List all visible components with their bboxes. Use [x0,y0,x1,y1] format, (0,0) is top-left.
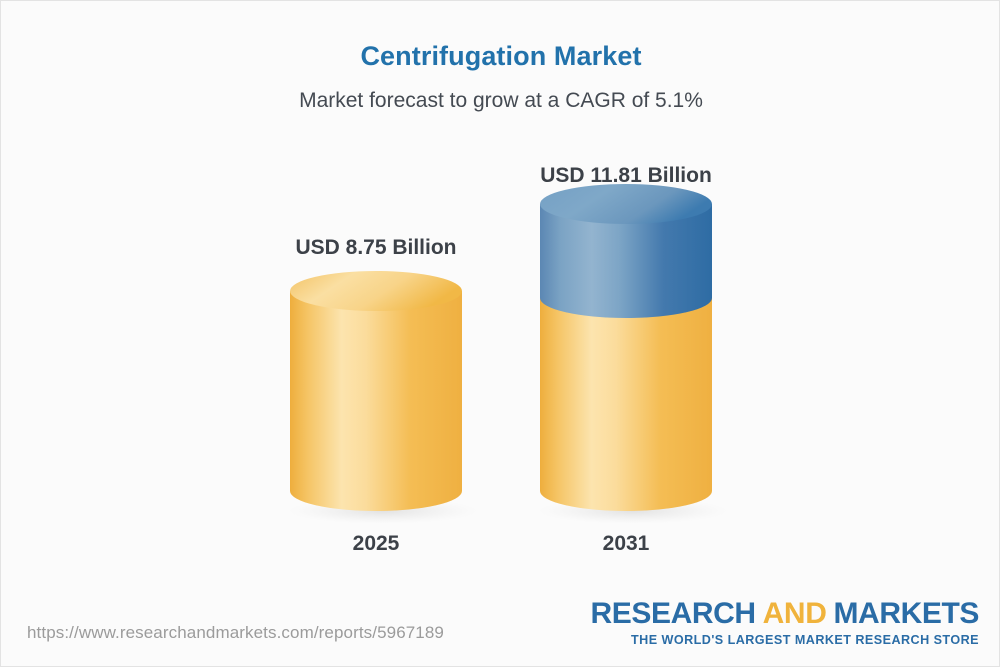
category-label-2031: 2031 [466,532,786,556]
cylinder-body-2025 [290,291,462,511]
research-and-markets-logo[interactable]: RESEARCHANDMARKETS THE WORLD'S LARGEST M… [591,599,979,647]
logo-word-and: AND [756,597,834,630]
cylinder-bar-2025[interactable] [287,269,465,523]
logo-wordmark: RESEARCHANDMARKETS [591,599,979,630]
plot-area: USD 8.75 Billion [1,1,1000,601]
bar-value-label-2025: USD 8.75 Billion [216,236,536,260]
logo-word-markets: MARKETS [833,597,979,630]
cylinder-bar-2031[interactable] [537,182,715,523]
logo-tagline: THE WORLD'S LARGEST MARKET RESEARCH STOR… [591,633,979,647]
cylinder-base-segment-2031 [540,298,712,511]
report-url[interactable]: https://www.researchandmarkets.com/repor… [27,623,444,643]
logo-word-research: RESEARCH [591,597,756,630]
cylinder-top-2025 [290,271,462,311]
chart-canvas: Centrifugation Market Market forecast to… [0,0,1000,667]
cylinder-top-2031 [540,184,712,224]
